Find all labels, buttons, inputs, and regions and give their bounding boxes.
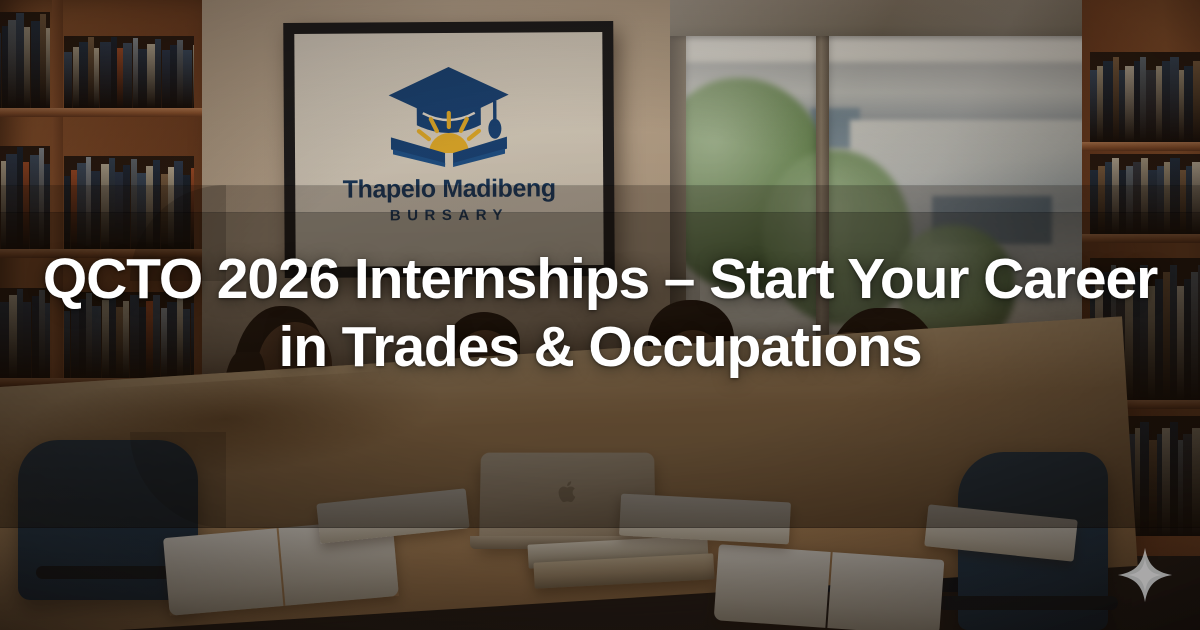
book-spine xyxy=(1183,434,1192,536)
book-spine xyxy=(123,43,132,108)
book-spine xyxy=(155,39,161,108)
book-spine xyxy=(1133,162,1141,234)
shelf-bay xyxy=(0,146,50,249)
book-row xyxy=(64,156,194,249)
shelf-bay xyxy=(0,12,50,108)
book-spine xyxy=(1192,428,1200,536)
notebook xyxy=(619,494,791,545)
shelf-bay xyxy=(64,36,194,108)
book-spine xyxy=(31,21,40,108)
window-blind xyxy=(670,0,1095,36)
book-spine xyxy=(161,174,168,249)
book-spine xyxy=(1112,158,1119,234)
poster-paper: Thapelo Madibeng BURSARY xyxy=(294,32,603,267)
graduation-cap-sun-book-icon xyxy=(382,57,515,170)
book-spine xyxy=(64,52,72,108)
shelf-board xyxy=(1082,234,1200,243)
book-spine xyxy=(1125,66,1134,143)
book-spine xyxy=(46,28,50,108)
apple-logo-icon xyxy=(556,480,578,505)
book-spine xyxy=(138,49,147,108)
book-spine xyxy=(1103,61,1113,142)
open-book-right xyxy=(714,544,945,630)
shelf-bay xyxy=(1090,52,1200,142)
book-spine xyxy=(1126,166,1133,234)
book-spine xyxy=(30,155,39,249)
book-spine xyxy=(193,45,194,108)
book-spine xyxy=(1148,170,1157,234)
book-spine xyxy=(16,13,24,108)
book-spine xyxy=(1090,70,1097,142)
book-spine xyxy=(146,166,153,249)
book-spine xyxy=(101,164,109,249)
book-spine xyxy=(115,172,123,249)
book-spine xyxy=(153,160,160,249)
chair-arm xyxy=(938,596,1118,610)
book-spine xyxy=(8,20,16,108)
book-spine xyxy=(23,162,29,249)
book-spine xyxy=(91,171,100,249)
book-spine xyxy=(1157,166,1164,234)
book-row xyxy=(1090,154,1200,234)
book-spine xyxy=(123,165,130,249)
poster-brand-subtitle: BURSARY xyxy=(390,207,509,225)
shelf-board xyxy=(0,108,202,117)
book-spine xyxy=(183,50,192,108)
book-spine xyxy=(0,33,1,108)
book-spine xyxy=(1170,57,1179,143)
book-spine xyxy=(170,45,177,108)
book-spine xyxy=(64,176,70,249)
book-spine xyxy=(1162,428,1170,536)
book-spine xyxy=(147,44,155,108)
shelf-board xyxy=(1082,142,1200,151)
book-spine xyxy=(1140,422,1149,536)
book-spine xyxy=(77,163,86,249)
book-spine xyxy=(183,175,190,249)
book-spine xyxy=(1170,422,1178,536)
book-spine xyxy=(137,173,146,249)
book-spine xyxy=(1170,158,1180,234)
shelf-bay xyxy=(64,156,194,249)
book-row xyxy=(0,12,50,108)
book-row xyxy=(0,146,50,249)
book-spine xyxy=(44,164,50,249)
poster-brand-name: Thapelo Madibeng xyxy=(343,174,556,204)
book-spine xyxy=(1162,61,1170,142)
book-spine xyxy=(1192,162,1200,234)
book-spine xyxy=(6,154,17,249)
book-spine xyxy=(79,42,88,108)
book-spine xyxy=(191,168,194,249)
book-spine xyxy=(1193,61,1200,142)
book-spine xyxy=(94,48,99,108)
book-spine xyxy=(1105,162,1112,234)
book-row xyxy=(1090,52,1200,142)
book-spine xyxy=(100,42,111,108)
book-spine xyxy=(1098,166,1105,234)
book-spine xyxy=(1184,66,1193,143)
banner-image: Thapelo Madibeng BURSARY xyxy=(0,0,1200,630)
book-row xyxy=(64,36,194,108)
book-spine xyxy=(174,161,183,249)
book-spine xyxy=(1141,158,1148,234)
book-spine xyxy=(1146,70,1156,142)
book-spine xyxy=(162,50,170,108)
book-spine xyxy=(1149,440,1157,536)
book-spine xyxy=(1090,170,1098,234)
book-spine xyxy=(1119,170,1126,234)
framed-poster: Thapelo Madibeng BURSARY xyxy=(283,21,615,278)
shelf-bay xyxy=(1090,154,1200,234)
page-title: QCTO 2026 Internships – Start Your Caree… xyxy=(0,246,1200,381)
book-spine xyxy=(24,27,30,108)
chair-arm xyxy=(36,566,182,579)
